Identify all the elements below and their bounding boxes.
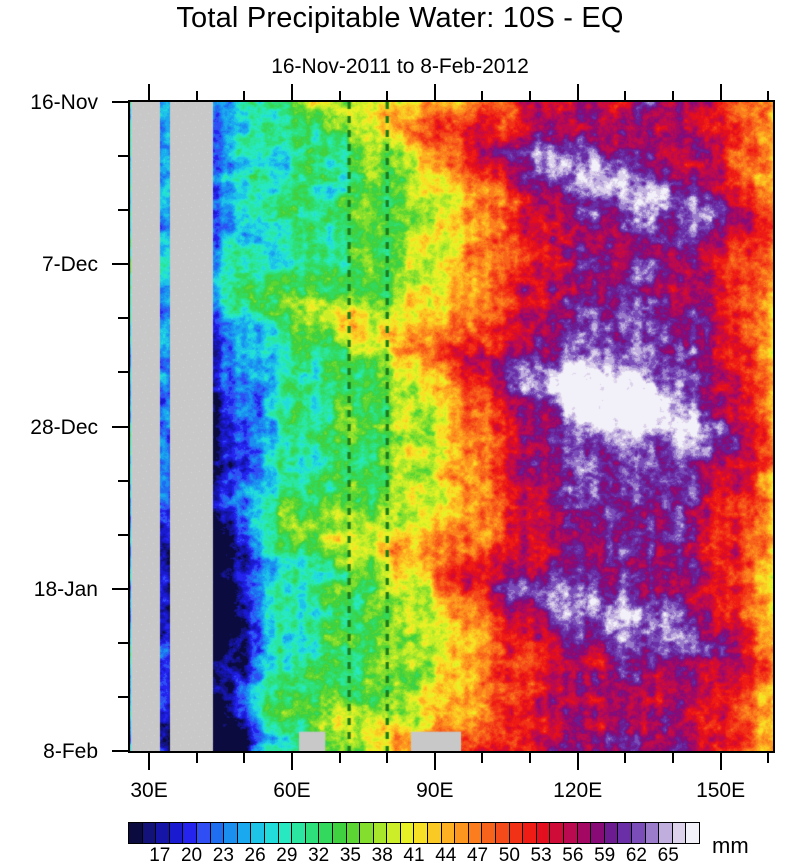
y-axis-major-tick — [112, 750, 128, 752]
colorbar-swatch — [523, 823, 537, 843]
y-axis-minor-tick — [118, 696, 128, 698]
colorbar-tick-label: 32 — [308, 845, 329, 867]
y-axis-minor-tick — [118, 209, 128, 211]
x-axis-minor-tick — [339, 753, 341, 763]
colorbar-tick-label: 26 — [245, 845, 266, 867]
y-axis-major-tick — [112, 101, 128, 103]
colorbar-swatch — [537, 823, 551, 843]
colorbar-swatch — [564, 823, 578, 843]
colorbar-swatch — [265, 823, 279, 843]
colorbar-swatch — [632, 823, 646, 843]
x-axis-major-tick — [148, 753, 150, 770]
x-axis-minor-tick — [196, 753, 198, 763]
x-axis-top-major-tick — [148, 84, 150, 100]
figure-root: Total Precipitable Water: 10S - EQ 16-No… — [0, 0, 800, 867]
x-axis-minor-tick — [624, 753, 626, 763]
x-axis-top-minor-tick — [672, 91, 674, 100]
colorbar-swatch — [347, 823, 361, 843]
colorbar-swatch — [510, 823, 524, 843]
x-axis-minor-tick — [767, 753, 769, 763]
colorbar-swatch — [197, 823, 211, 843]
x-axis-top-minor-tick — [529, 91, 531, 100]
x-axis-minor-tick — [529, 753, 531, 763]
colorbar-swatch — [442, 823, 456, 843]
colorbar-tick-label: 62 — [626, 845, 647, 867]
colorbar — [128, 822, 700, 844]
colorbar-swatch — [156, 823, 170, 843]
x-axis-major-tick — [720, 753, 722, 770]
colorbar-swatch — [401, 823, 415, 843]
colorbar-swatch — [550, 823, 564, 843]
x-axis-top-major-tick — [434, 84, 436, 100]
colorbar-swatch — [238, 823, 252, 843]
x-axis-top-minor-tick — [386, 91, 388, 100]
colorbar-swatch — [387, 823, 401, 843]
y-axis-major-tick — [112, 263, 128, 265]
colorbar-tick-label: 38 — [372, 845, 393, 867]
colorbar-swatch — [183, 823, 197, 843]
colorbar-tick-label: 59 — [594, 845, 615, 867]
x-axis-top-minor-tick — [196, 91, 198, 100]
x-axis-top-major-tick — [720, 84, 722, 100]
colorbar-tick-label: 35 — [340, 845, 361, 867]
y-axis-major-tick — [112, 588, 128, 590]
colorbar-swatch — [469, 823, 483, 843]
colorbar-tick-label: 20 — [181, 845, 202, 867]
colorbar-swatch — [578, 823, 592, 843]
colorbar-swatch — [591, 823, 605, 843]
hovmoller-plot-area — [128, 100, 775, 753]
colorbar-swatch — [143, 823, 157, 843]
y-axis-minor-tick — [118, 642, 128, 644]
x-axis-minor-tick — [386, 753, 388, 763]
x-axis-top-major-tick — [291, 84, 293, 100]
precipitable-water-field — [130, 102, 773, 751]
x-axis-minor-tick — [672, 753, 674, 763]
colorbar-swatch — [360, 823, 374, 843]
x-axis-minor-tick — [243, 753, 245, 763]
colorbar-tick-label: 23 — [213, 845, 234, 867]
colorbar-tick-label: 50 — [499, 845, 520, 867]
colorbar-tick-label: 56 — [562, 845, 583, 867]
x-axis-top-minor-tick — [624, 91, 626, 100]
colorbar-tick-label: 29 — [276, 845, 297, 867]
colorbar-swatch — [319, 823, 333, 843]
colorbar-swatch — [673, 823, 687, 843]
x-axis-top-minor-tick — [339, 91, 341, 100]
colorbar-swatch — [414, 823, 428, 843]
colorbar-swatch — [605, 823, 619, 843]
y-axis-label: 7-Dec — [0, 253, 98, 277]
x-axis-label: 30E — [130, 779, 167, 803]
colorbar-tick-label: 65 — [658, 845, 679, 867]
colorbar-swatch — [428, 823, 442, 843]
colorbar-swatch — [482, 823, 496, 843]
y-axis-major-tick — [112, 426, 128, 428]
colorbar-swatch — [292, 823, 306, 843]
y-axis-minor-tick — [118, 155, 128, 157]
y-axis-label: 28-Dec — [0, 416, 98, 440]
colorbar-swatch — [211, 823, 225, 843]
colorbar-swatch — [496, 823, 510, 843]
date-range-subtitle: 16-Nov-2011 to 8-Feb-2012 — [0, 55, 800, 79]
x-axis-minor-tick — [481, 753, 483, 763]
colorbar-tick-label: 44 — [435, 845, 456, 867]
x-axis-label: 90E — [416, 779, 453, 803]
x-axis-label: 60E — [273, 779, 310, 803]
x-axis-top-minor-tick — [767, 91, 769, 100]
page-title: Total Precipitable Water: 10S - EQ — [0, 2, 800, 35]
y-axis-label: 18-Jan — [0, 578, 98, 602]
colorbar-swatch — [618, 823, 632, 843]
y-axis-minor-tick — [118, 534, 128, 536]
y-axis-label: 16-Nov — [0, 91, 98, 115]
colorbar-swatch — [455, 823, 469, 843]
x-axis-label: 120E — [553, 779, 602, 803]
y-axis-minor-tick — [118, 317, 128, 319]
colorbar-unit-label: mm — [712, 833, 749, 859]
x-axis-major-tick — [577, 753, 579, 770]
y-axis-minor-tick — [118, 371, 128, 373]
x-axis-top-major-tick — [577, 84, 579, 100]
colorbar-swatch — [374, 823, 388, 843]
colorbar-tick-label: 41 — [403, 845, 424, 867]
colorbar-swatch — [129, 823, 143, 843]
x-axis-major-tick — [434, 753, 436, 770]
x-axis-label: 150E — [696, 779, 745, 803]
colorbar-swatch — [279, 823, 293, 843]
y-axis-label: 8-Feb — [0, 740, 98, 764]
colorbar-tick-label: 17 — [149, 845, 170, 867]
colorbar-swatch — [646, 823, 660, 843]
colorbar-swatch — [170, 823, 184, 843]
colorbar-swatch — [686, 823, 699, 843]
colorbar-swatch — [251, 823, 265, 843]
x-axis-top-minor-tick — [481, 91, 483, 100]
x-axis-top-minor-tick — [243, 91, 245, 100]
colorbar-swatch — [224, 823, 238, 843]
colorbar-swatch — [659, 823, 673, 843]
colorbar-swatch — [306, 823, 320, 843]
colorbar-tick-label: 47 — [467, 845, 488, 867]
x-axis-major-tick — [291, 753, 293, 770]
y-axis-minor-tick — [118, 480, 128, 482]
colorbar-tick-label: 53 — [531, 845, 552, 867]
colorbar-swatch — [333, 823, 347, 843]
